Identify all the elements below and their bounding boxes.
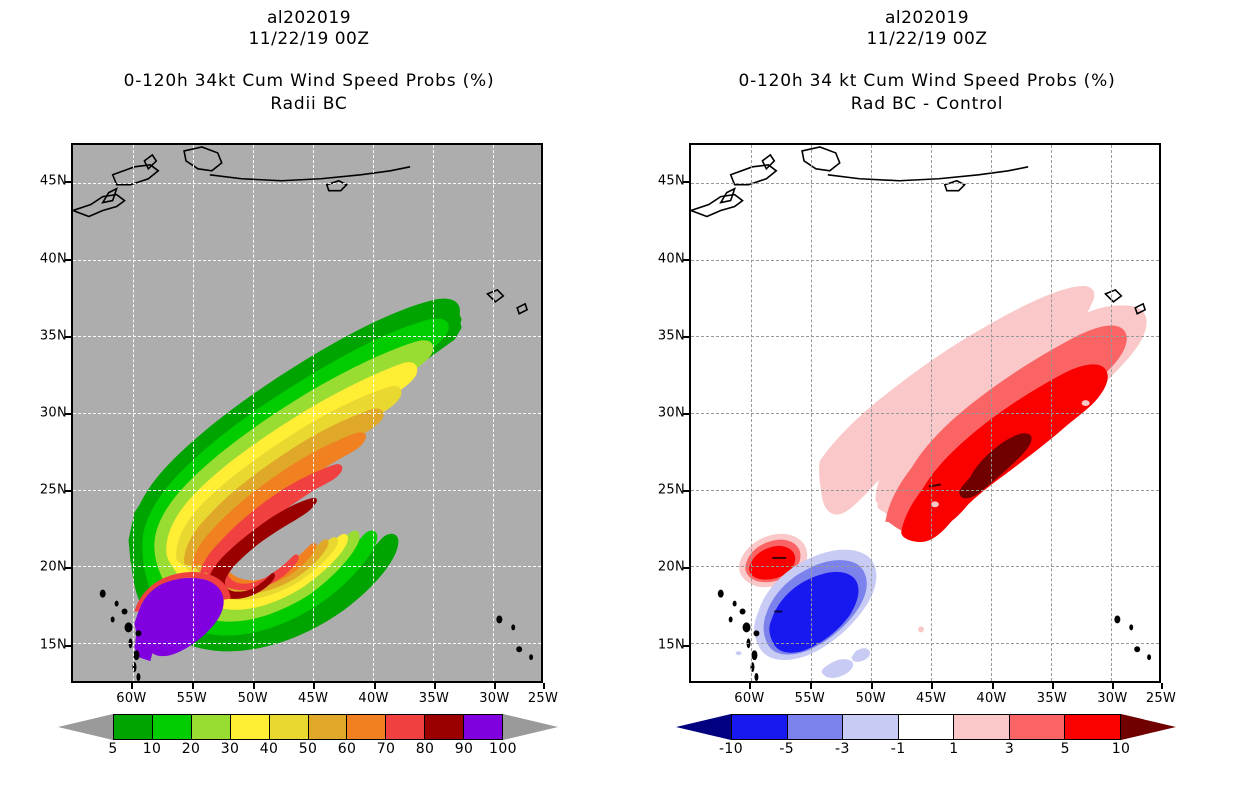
left-ytick-35n: 35N — [40, 328, 67, 343]
right-xtick-60w: 60W — [734, 691, 764, 706]
right-xtick-50w: 50W — [856, 691, 886, 706]
left-colorbar-tick-2: 20 — [182, 741, 201, 757]
right-xtick-25w: 25W — [1146, 691, 1176, 706]
left-ytick-40n: 40N — [40, 251, 67, 266]
left-map: 45N 40N 35N 30N 25N 20N 15N 60W 55W — [71, 143, 543, 683]
right-colorbar-segment-2 — [843, 715, 899, 739]
left-xtick-35w: 35W — [419, 691, 449, 706]
left-colorbar-ticks: 5102030405060708090100 — [113, 741, 503, 761]
right-ytick-15n: 15N — [658, 637, 685, 652]
left-xtick-40w: 40W — [358, 691, 388, 706]
panel-radii-bc: al202019 11/22/19 00Z 0-120h 34kt Cum Wi… — [0, 0, 618, 800]
left-title-main: 0-120h 34kt Cum Wind Speed Probs (%) — [0, 70, 618, 93]
right-colorbar-segment-4 — [954, 715, 1010, 739]
right-colorbar-tick-2: -3 — [835, 741, 850, 757]
left-xtick-30w: 30W — [479, 691, 509, 706]
left-ytick-25n: 25N — [40, 483, 67, 498]
left-colorbar-segment-9 — [464, 715, 502, 739]
left-colorbar-segment-6 — [347, 715, 386, 739]
right-plot-area — [691, 145, 1159, 681]
right-ytick-45n: 45N — [658, 174, 685, 189]
right-ytick-40n: 40N — [658, 251, 685, 266]
left-datetime: 11/22/19 00Z — [0, 29, 618, 50]
right-colorbar-tick-7: 10 — [1112, 741, 1131, 757]
right-colorbar-segment-5 — [1010, 715, 1066, 739]
right-colorbar-segment-6 — [1065, 715, 1120, 739]
left-map-frame — [71, 143, 543, 683]
left-colorbar-tick-6: 60 — [338, 741, 357, 757]
right-title-block: al202019 11/22/19 00Z 0-120h 34 kt Cum W… — [618, 8, 1236, 115]
right-title-main: 0-120h 34 kt Cum Wind Speed Probs (%) — [618, 70, 1236, 93]
left-colorbar-segment-8 — [425, 715, 464, 739]
left-colorbar-tick-1: 10 — [143, 741, 162, 757]
left-colorbar-tick-0: 5 — [108, 741, 117, 757]
right-colorbar-cap-high — [1121, 714, 1176, 740]
left-colorbar-cap-high — [503, 714, 558, 740]
left-colorbar-tick-4: 40 — [260, 741, 279, 757]
right-ytick-25n: 25N — [658, 483, 685, 498]
left-colorbar-segment-2 — [192, 715, 231, 739]
right-coastline — [691, 145, 1159, 681]
right-map-frame — [689, 143, 1161, 683]
left-colorbar-cap-low — [58, 714, 113, 740]
left-ytick-15n: 15N — [40, 637, 67, 652]
right-xtick-30w: 30W — [1097, 691, 1127, 706]
right-colorbar-ticks: -10-5-3-113510 — [731, 741, 1121, 761]
right-ytick-20n: 20N — [658, 560, 685, 575]
right-colorbar-tick-0: -10 — [719, 741, 743, 757]
right-colorbar-segment-0 — [732, 715, 788, 739]
right-colorbar-tick-4: 1 — [949, 741, 958, 757]
right-ytick-30n: 30N — [658, 406, 685, 421]
left-colorbar-body — [113, 714, 503, 740]
right-xtick-40w: 40W — [976, 691, 1006, 706]
right-title-sub: Rad BC - Control — [618, 93, 1236, 115]
left-colorbar-tick-5: 50 — [299, 741, 318, 757]
left-storm-id: al202019 — [0, 8, 618, 29]
left-colorbar-segment-3 — [231, 715, 270, 739]
left-xtick-25w: 25W — [528, 691, 558, 706]
left-title-block: al202019 11/22/19 00Z 0-120h 34kt Cum Wi… — [0, 8, 618, 115]
right-colorbar-body — [731, 714, 1121, 740]
panel-rad-bc-minus-control: al202019 11/22/19 00Z 0-120h 34 kt Cum W… — [618, 0, 1236, 800]
left-xtick-45w: 45W — [298, 691, 328, 706]
left-colorbar-tick-10: 100 — [489, 741, 517, 757]
left-colorbar-tick-3: 30 — [221, 741, 240, 757]
left-colorbar-tick-7: 70 — [377, 741, 396, 757]
left-ytick-45n: 45N — [40, 174, 67, 189]
left-xtick-50w: 50W — [238, 691, 268, 706]
left-title-sub: Radii BC — [0, 93, 618, 115]
left-ytick-30n: 30N — [40, 406, 67, 421]
right-colorbar-segment-3 — [899, 715, 955, 739]
right-xtick-35w: 35W — [1037, 691, 1067, 706]
right-ytick-35n: 35N — [658, 328, 685, 343]
left-xtick-60w: 60W — [116, 691, 146, 706]
right-colorbar-cap-low — [676, 714, 731, 740]
right-xtick-55w: 55W — [795, 691, 825, 706]
right-storm-id: al202019 — [618, 8, 1236, 29]
right-colorbar-segment-1 — [788, 715, 844, 739]
right-map: 45N 40N 35N 30N 25N 20N 15N 60W 55W — [689, 143, 1161, 683]
right-colorbar-tick-1: -5 — [779, 741, 794, 757]
left-colorbar: 5102030405060708090100 — [58, 714, 558, 740]
right-colorbar-tick-6: 5 — [1061, 741, 1070, 757]
wind-speed-probability-figure: al202019 11/22/19 00Z 0-120h 34kt Cum Wi… — [0, 0, 1236, 800]
left-colorbar-tick-8: 80 — [416, 741, 435, 757]
left-colorbar-segment-4 — [270, 715, 309, 739]
left-coastline — [73, 145, 541, 681]
right-datetime: 11/22/19 00Z — [618, 29, 1236, 50]
left-colorbar-segment-1 — [153, 715, 192, 739]
right-colorbar-tick-3: -1 — [891, 741, 906, 757]
left-colorbar-segment-5 — [309, 715, 348, 739]
left-colorbar-segment-0 — [114, 715, 153, 739]
left-xtick-55w: 55W — [177, 691, 207, 706]
left-colorbar-segment-7 — [386, 715, 425, 739]
right-xtick-45w: 45W — [916, 691, 946, 706]
right-colorbar: -10-5-3-113510 — [676, 714, 1176, 740]
left-ytick-20n: 20N — [40, 560, 67, 575]
left-plot-area — [73, 145, 541, 681]
left-colorbar-tick-9: 90 — [455, 741, 474, 757]
right-colorbar-tick-5: 3 — [1005, 741, 1014, 757]
